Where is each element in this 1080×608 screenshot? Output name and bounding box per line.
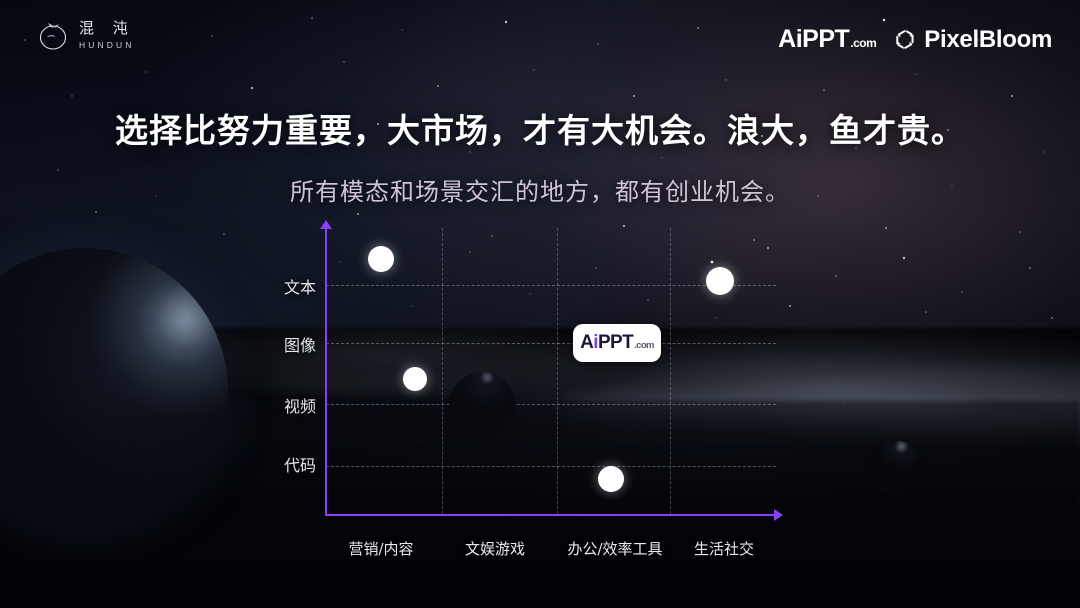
- gridline-vertical: [670, 228, 671, 514]
- data-point-marker[interactable]: [403, 367, 427, 391]
- data-point-marker[interactable]: [368, 246, 394, 272]
- gridline-horizontal: [326, 404, 776, 405]
- x-axis-label-entertainment: 文娱游戏: [465, 538, 525, 559]
- x-axis-label-marketing: 营销/内容: [348, 538, 413, 559]
- data-point-marker[interactable]: [706, 267, 734, 295]
- y-axis-label-code: 代码: [284, 452, 316, 476]
- data-point-planet: [449, 372, 515, 438]
- gridline-horizontal: [326, 343, 776, 344]
- badge-letters-ppt: PPT: [598, 332, 633, 354]
- slide-root: 混 沌 HUNDUN AiPPT .com PixelBloom 选: [0, 0, 1080, 608]
- data-point-marker[interactable]: [598, 466, 624, 492]
- aippt-highlight-badge[interactable]: A i PPT .com: [573, 324, 661, 362]
- y-axis-label-image: 图像: [284, 332, 316, 356]
- x-axis-arrow-icon: [774, 509, 783, 521]
- opportunity-matrix-chart: 文本 图像 视频 代码 营销/内容 文娱游戏 办公/效率工具 生活社交 A i …: [0, 0, 1080, 608]
- gridline-vertical: [442, 228, 443, 514]
- gridline-vertical: [557, 228, 558, 514]
- x-axis-label-productivity: 办公/效率工具: [567, 538, 662, 559]
- y-axis-label-text: 文本: [284, 274, 316, 298]
- y-axis-label-video: 视频: [284, 393, 316, 417]
- x-axis-line: [325, 514, 777, 516]
- x-axis-label-lifestyle: 生活社交: [694, 538, 754, 559]
- badge-letter-a: A: [580, 332, 593, 354]
- aippt-badge-text: A i PPT .com: [580, 332, 654, 354]
- y-axis-arrow-icon: [320, 220, 332, 229]
- gridline-horizontal: [326, 466, 776, 467]
- badge-suffix-com: .com: [634, 340, 654, 351]
- y-axis-line: [325, 228, 327, 516]
